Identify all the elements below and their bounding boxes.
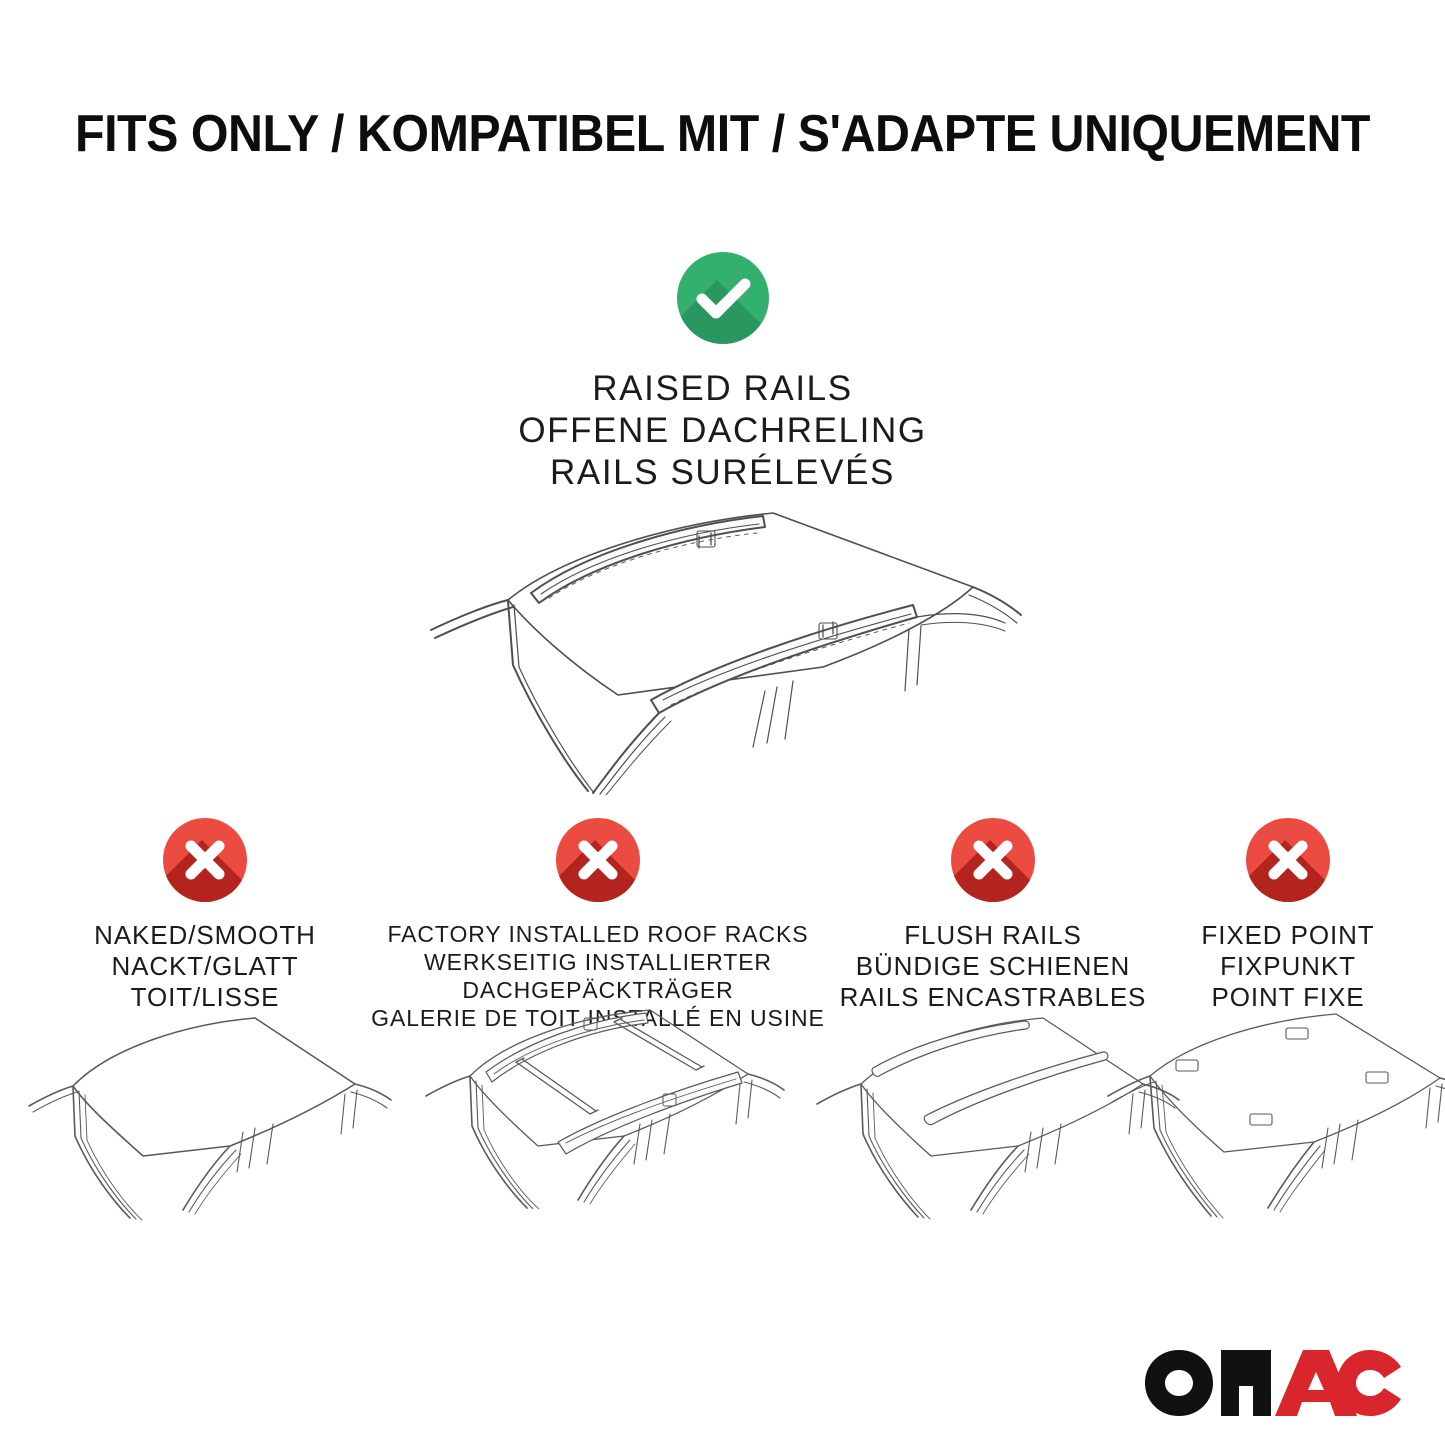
incompatible-label-de: BÜNDIGE SCHIENEN: [840, 951, 1147, 982]
cross-circle-icon: [163, 818, 247, 902]
car-roof-fixed-point-drawing: [1098, 1006, 1445, 1221]
incompatible-labels: NAKED/SMOOTH NACKT/GLATT TOIT/LISSE: [94, 920, 316, 1013]
cross-circle-icon: [1246, 818, 1330, 902]
car-roof-naked-smooth-drawing: [15, 1006, 395, 1221]
incompatible-item-fixed-point: FIXED POINT FIXPUNKT POINT FIXE: [1153, 818, 1423, 1013]
incompatible-item-naked-smooth: NAKED/SMOOTH NACKT/GLATT TOIT/LISSE: [45, 818, 365, 1013]
incompatible-labels: FIXED POINT FIXPUNKT POINT FIXE: [1201, 920, 1374, 1013]
incompatible-label-de: FIXPUNKT: [1201, 951, 1374, 982]
incompatible-label-en: NAKED/SMOOTH: [94, 920, 316, 951]
compatible-labels: RAISED RAILS OFFENE DACHRELING RAILS SUR…: [518, 368, 926, 494]
compatible-section: RAISED RAILS OFFENE DACHRELING RAILS SUR…: [0, 252, 1445, 494]
cross-circle-icon: [556, 818, 640, 902]
incompatible-labels: FLUSH RAILS BÜNDIGE SCHIENEN RAILS ENCAS…: [840, 920, 1147, 1013]
page-title: FITS ONLY / KOMPATIBEL MIT / S'ADAPTE UN…: [51, 104, 1395, 164]
incompatible-label-en: FACTORY INSTALLED ROOF RACKS: [371, 920, 825, 948]
incompatible-label-de: NACKT/GLATT: [94, 951, 316, 982]
car-roof-raised-rails-drawing: [413, 495, 1033, 795]
incompatible-label-en: FIXED POINT: [1201, 920, 1374, 951]
omac-logo: [1143, 1346, 1403, 1420]
incompatible-item-factory-racks: FACTORY INSTALLED ROOF RACKS WERKSEITIG …: [368, 818, 828, 1032]
incompatible-label-de-1: WERKSEITIG INSTALLIERTER: [371, 948, 825, 976]
incompatible-section: NAKED/SMOOTH NACKT/GLATT TOIT/LISSE: [0, 818, 1445, 1248]
compatible-label-fr: RAILS SURÉLEVÉS: [518, 452, 926, 494]
cross-circle-icon: [951, 818, 1035, 902]
incompatible-item-flush-rails: FLUSH RAILS BÜNDIGE SCHIENEN RAILS ENCAS…: [833, 818, 1153, 1013]
incompatible-label-en: FLUSH RAILS: [840, 920, 1147, 951]
compatible-label-en: RAISED RAILS: [518, 368, 926, 410]
car-roof-factory-racks-drawing: [408, 994, 788, 1209]
check-circle-icon: [677, 252, 769, 344]
compatible-label-de: OFFENE DACHRELING: [518, 410, 926, 452]
compatibility-infographic: FITS ONLY / KOMPATIBEL MIT / S'ADAPTE UN…: [0, 0, 1445, 1445]
